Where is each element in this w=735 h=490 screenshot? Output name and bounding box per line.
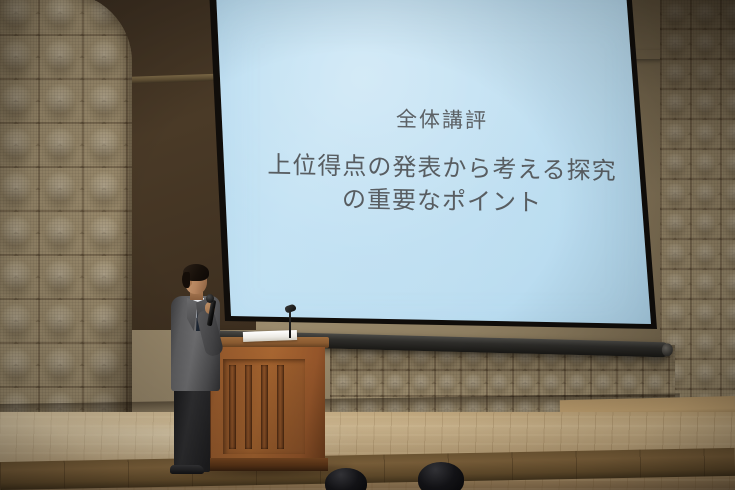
lectern-slat-3: [261, 365, 268, 449]
presenter-hair-side: [182, 272, 190, 288]
projection-screen: 全体講評 上位得点の発表から考える探究 の重要なポイント: [0, 0, 735, 360]
handheld-microphone-head: [206, 294, 214, 303]
presentation-photo-scene: 全体講評 上位得点の発表から考える探究 の重要なポイント: [0, 0, 735, 490]
audience-head: [418, 462, 464, 490]
slide-content: 全体講評 上位得点の発表から考える探究 の重要なポイント: [232, 0, 652, 349]
gooseneck-microphone-stand: [289, 310, 291, 338]
lectern-slat-4: [277, 365, 284, 449]
screen-roller-end-cap: [662, 343, 673, 356]
slide-title: 全体講評: [232, 100, 652, 138]
presenter-shoes: [170, 465, 204, 474]
slide-subtitle: 上位得点の発表から考える探究 の重要なポイント: [242, 148, 642, 222]
audience-head: [325, 468, 367, 490]
presenter-trousers: [174, 386, 210, 472]
presenter: [168, 262, 236, 477]
lectern-slat-2: [245, 365, 252, 449]
